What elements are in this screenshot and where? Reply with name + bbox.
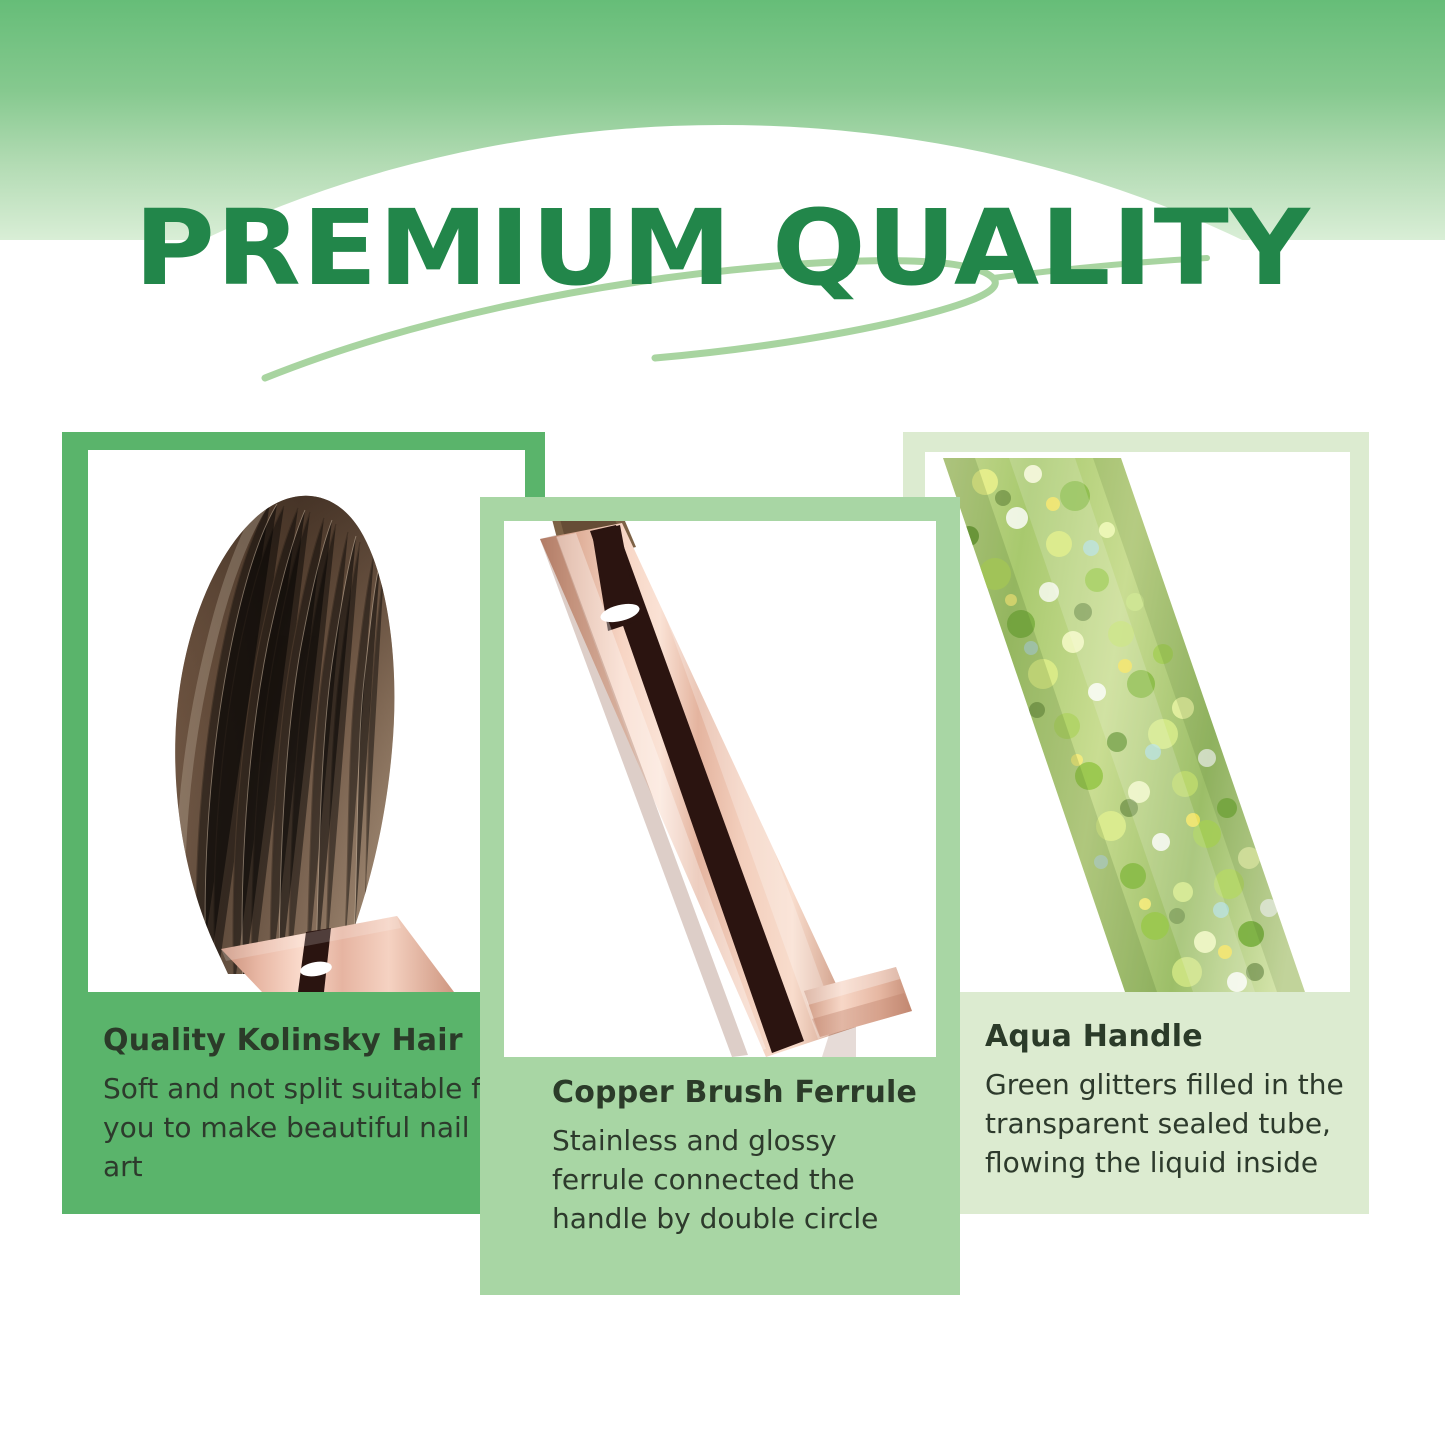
- aqua-handle-text: Aqua Handle Green glitters filled in the…: [903, 1005, 1369, 1214]
- glitter-tube-illustration: [925, 452, 1350, 992]
- copper-ferrule-photo: [504, 521, 936, 1057]
- card-description: Stainless and glossy ferrule connected t…: [552, 1121, 932, 1238]
- kolinsky-hair-text: Quality Kolinsky Hair Soft and not split…: [62, 1005, 545, 1214]
- card-description: Soft and not split suitable for you to m…: [103, 1069, 517, 1186]
- kolinsky-hair-photo: [88, 450, 525, 992]
- card-description: Green glitters filled in the transparent…: [985, 1065, 1347, 1182]
- title-block: PREMIUM QUALITY: [0, 196, 1445, 396]
- card-title: Quality Kolinsky Hair: [103, 1023, 517, 1059]
- infographic-page: PREMIUM QUALITY: [0, 0, 1445, 1445]
- aqua-handle-photo: [925, 452, 1350, 992]
- brush-head-illustration: [88, 450, 525, 992]
- card-title: Aqua Handle: [985, 1019, 1347, 1055]
- copper-ferrule-text: Copper Brush Ferrule Stainless and gloss…: [480, 1057, 960, 1295]
- ferrule-illustration: [504, 521, 936, 1057]
- card-title: Copper Brush Ferrule: [552, 1075, 932, 1111]
- page-title: PREMIUM QUALITY: [0, 196, 1445, 300]
